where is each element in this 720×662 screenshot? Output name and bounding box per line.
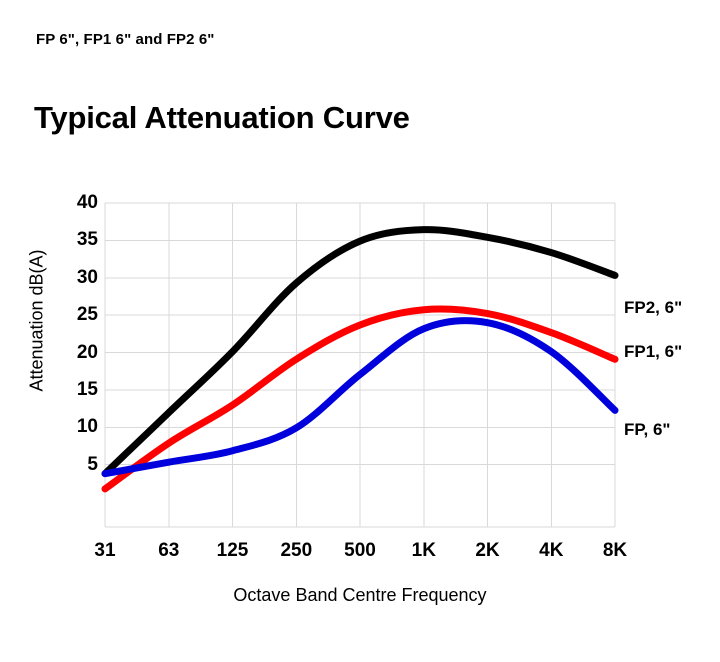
- attenuation-chart: 40 35 30 25 20 15 10 5 31 63 125 250 500…: [0, 0, 720, 662]
- y-axis-label: Attenuation dB(A): [27, 221, 48, 421]
- x-tick-125: 125: [217, 540, 249, 562]
- x-tick-1K: 1K: [412, 540, 436, 562]
- x-tick-500: 500: [344, 540, 376, 562]
- x-axis-ticks: 31 63 125 250 500 1K 2K 4K 8K: [0, 0, 720, 662]
- x-tick-4K: 4K: [539, 540, 563, 562]
- x-tick-31: 31: [94, 540, 115, 562]
- x-axis-label: Octave Band Centre Frequency: [105, 585, 615, 606]
- series-label-fp2: FP2, 6": [624, 298, 682, 318]
- x-tick-250: 250: [280, 540, 312, 562]
- series-label-fp1: FP1, 6": [624, 342, 682, 362]
- x-tick-63: 63: [158, 540, 179, 562]
- x-tick-2K: 2K: [475, 540, 499, 562]
- x-tick-8K: 8K: [603, 540, 627, 562]
- series-label-fp: FP, 6": [624, 420, 671, 440]
